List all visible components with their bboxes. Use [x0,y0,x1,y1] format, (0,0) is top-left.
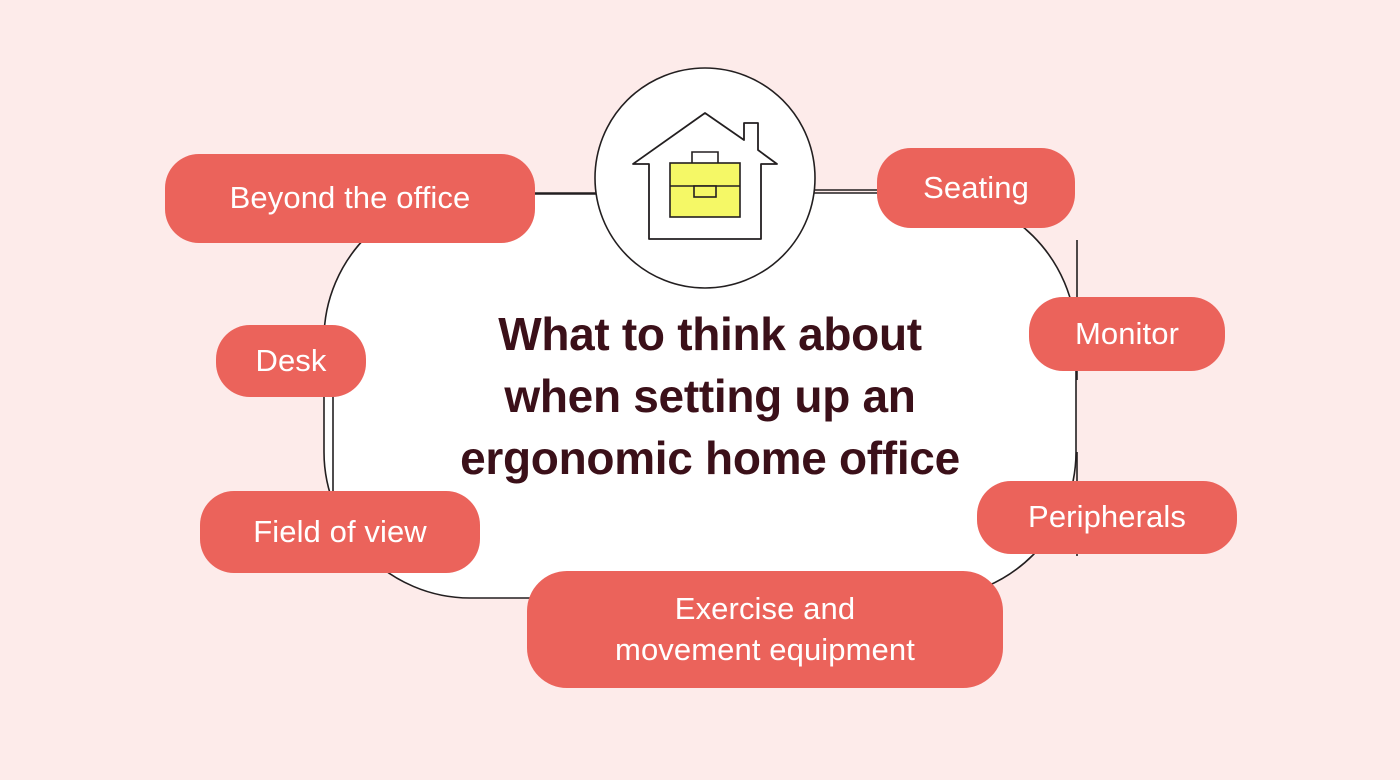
branch-pill-desk[interactable]: Desk [216,325,366,397]
branch-pill-peripherals[interactable]: Peripherals [977,481,1237,554]
branch-pill-beyond-the-office[interactable]: Beyond the office [165,154,535,243]
page-title: What to think about when setting up an e… [380,303,1040,489]
branch-pill-exercise-and-movement-equipment[interactable]: Exercise and movement equipment [527,571,1003,688]
branch-pill-monitor[interactable]: Monitor [1029,297,1225,371]
infographic-canvas: What to think about when setting up an e… [0,0,1400,780]
branch-pill-field-of-view[interactable]: Field of view [200,491,480,573]
branch-pill-seating[interactable]: Seating [877,148,1075,228]
